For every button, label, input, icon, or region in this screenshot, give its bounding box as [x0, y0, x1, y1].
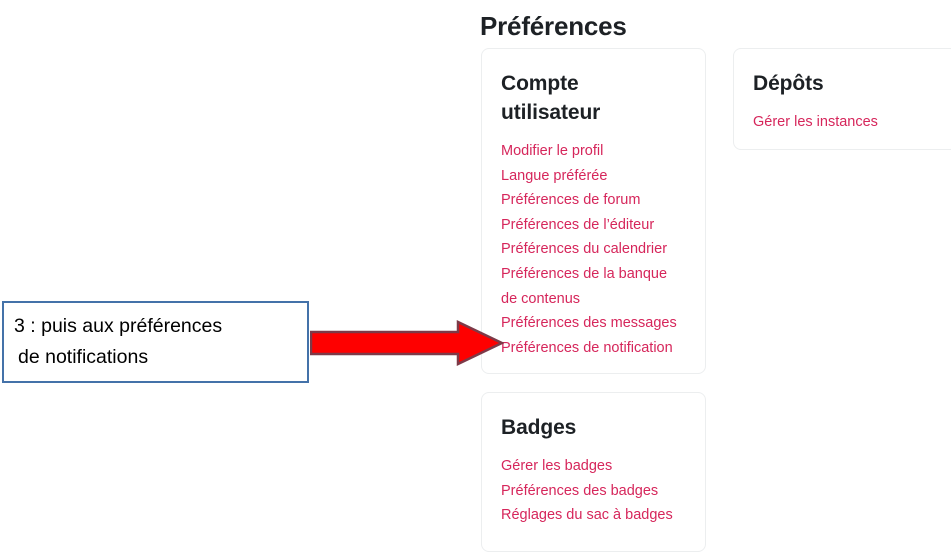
- card-badges: Badges Gérer les badges Préférences des …: [481, 392, 706, 552]
- link-preferences-des-badges[interactable]: Préférences des badges: [501, 479, 658, 504]
- link-preferences-des-messages[interactable]: Préférences des messages: [501, 311, 677, 336]
- card-body: Badges Gérer les badges Préférences des …: [482, 393, 705, 544]
- annotation-callout-box: 3 : puis aux préférences de notification…: [2, 301, 309, 383]
- card-user-account: Compte utilisateur Modifier le profil La…: [481, 48, 706, 374]
- card-body: Compte utilisateur Modifier le profil La…: [482, 49, 705, 376]
- annotation-line-2: de notifications: [14, 342, 297, 373]
- link-list-repositories: Gérer les instances: [753, 110, 938, 135]
- link-list-user-account: Modifier le profil Langue préférée Préfé…: [501, 139, 686, 360]
- link-preferences-de-lediteur[interactable]: Préférences de l’éditeur: [501, 213, 654, 238]
- list-item: Préférences de la banque de contenus: [501, 262, 686, 311]
- link-preferences-du-calendrier[interactable]: Préférences du calendrier: [501, 237, 667, 262]
- card-body: Dépôts Gérer les instances: [734, 49, 951, 151]
- card-title-user-account: Compte utilisateur: [501, 69, 631, 127]
- page-title: Préférences: [480, 10, 627, 42]
- link-preferences-de-notification[interactable]: Préférences de notification: [501, 336, 673, 361]
- list-item: Langue préférée: [501, 164, 686, 189]
- link-preferences-de-forum[interactable]: Préférences de forum: [501, 188, 640, 213]
- link-reglages-du-sac-a-badges[interactable]: Réglages du sac à badges: [501, 503, 673, 528]
- list-item: Préférences des messages: [501, 311, 686, 336]
- link-gerer-les-instances[interactable]: Gérer les instances: [753, 110, 878, 135]
- list-item: Préférences de l’éditeur: [501, 213, 686, 238]
- link-preferences-banque-de-contenus[interactable]: Préférences de la banque de contenus: [501, 262, 686, 311]
- card-title-repositories: Dépôts: [753, 69, 938, 98]
- list-item: Préférences de notification: [501, 336, 686, 361]
- link-gerer-les-badges[interactable]: Gérer les badges: [501, 454, 612, 479]
- link-list-badges: Gérer les badges Préférences des badges …: [501, 454, 686, 528]
- list-item: Préférences de forum: [501, 188, 686, 213]
- link-modifier-le-profil[interactable]: Modifier le profil: [501, 139, 603, 164]
- arrow-shape: [311, 322, 502, 364]
- list-item: Gérer les badges: [501, 454, 686, 479]
- card-repositories: Dépôts Gérer les instances: [733, 48, 951, 150]
- red-arrow-icon: [310, 320, 504, 366]
- link-langue-preferee[interactable]: Langue préférée: [501, 164, 607, 189]
- list-item: Réglages du sac à badges: [501, 503, 686, 528]
- annotation-line-1: 3 : puis aux préférences: [14, 311, 297, 342]
- list-item: Préférences des badges: [501, 479, 686, 504]
- list-item: Modifier le profil: [501, 139, 686, 164]
- screenshot-canvas: Préférences Compte utilisateur Modifier …: [0, 0, 951, 528]
- list-item: Gérer les instances: [753, 110, 938, 135]
- list-item: Préférences du calendrier: [501, 237, 686, 262]
- card-title-badges: Badges: [501, 413, 686, 442]
